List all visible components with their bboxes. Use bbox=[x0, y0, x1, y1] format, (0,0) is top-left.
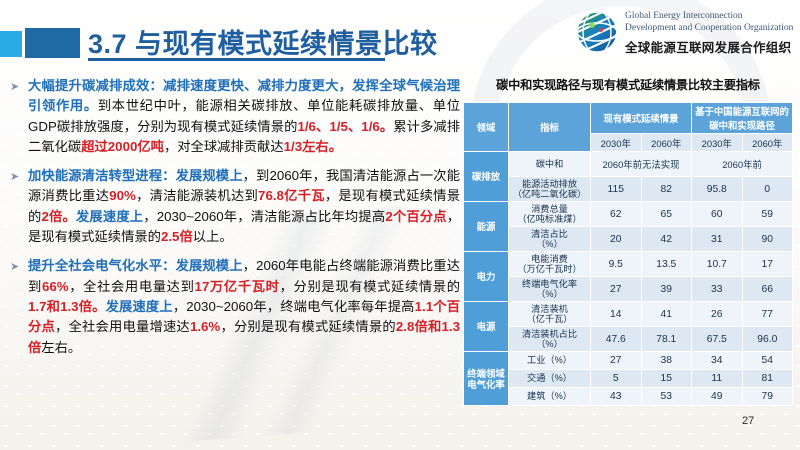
cell-value-c0: 20 bbox=[591, 227, 642, 252]
cell-value-c1: 15 bbox=[641, 370, 692, 388]
bullet-paragraph-clean-energy-transition: ➤ 加快能源清洁转型进程：发展规模上，到2060年，我国清洁能源占一次能源消费比… bbox=[8, 166, 460, 247]
text-run-plain-13: ，分别是现有模式延续情景的 bbox=[220, 319, 396, 334]
logo-english-line1: Global Energy Interconnection bbox=[625, 11, 795, 23]
cell-value-c1: 13.5 bbox=[641, 252, 692, 277]
th-year-2: 2030年 bbox=[692, 134, 743, 152]
table-row: 能源消费总量（亿吨标准煤）62656059 bbox=[464, 202, 793, 227]
text-run-plain-9: ，2030~2060年，清洁能源占比年均提高 bbox=[143, 209, 385, 224]
organization-logo: Global Energy Interconnection Developmen… bbox=[575, 8, 793, 56]
text-run-plain-4: ，全社会用电量达到 bbox=[69, 279, 195, 294]
text-run-plain-6: ，对全球减排贡献达 bbox=[164, 139, 284, 154]
cell-value-c3: 77 bbox=[742, 302, 793, 327]
table-row: 清洁占比（%）20423190 bbox=[464, 227, 793, 252]
content-bullet-list: ➤ 大幅提升碳减排成效：减排速度更快、减排力度更大，发挥全球气候治理引领作用。到… bbox=[8, 76, 460, 367]
slide-canvas: 3.7 与现有模式延续情景比较 bbox=[0, 0, 800, 450]
cell-indicator: 终端电气化率（%） bbox=[509, 277, 591, 302]
cell-indicator: 清洁装机占比（%） bbox=[509, 327, 591, 352]
text-run-red-5: 76.8亿千瓦 bbox=[258, 188, 325, 203]
cell-value-c3: 66 bbox=[742, 277, 793, 302]
table-row: 电力电能消费（万亿千瓦时）9.513.510.717 bbox=[464, 252, 793, 277]
cell-value-c3: 54 bbox=[742, 352, 793, 370]
text-run-red-3: 1/6、1/5、1/6。 bbox=[297, 119, 393, 134]
cell-value-c0: 47.6 bbox=[591, 327, 642, 352]
arrow-bullet-icon: ➤ bbox=[10, 77, 19, 97]
arrow-bullet-icon: ➤ bbox=[10, 257, 19, 277]
table-row: 终端电气化率（%）27393366 bbox=[464, 277, 793, 302]
cell-value-c1: 39 bbox=[641, 277, 692, 302]
cell-value-c0: 43 bbox=[591, 388, 642, 406]
cell-value-c1: 78.1 bbox=[641, 327, 692, 352]
cell-domain: 电力 bbox=[464, 252, 509, 302]
logo-chinese-name: 全球能源互联网发展合作组织 bbox=[625, 37, 791, 56]
th-group-current: 现有模式延续情景 bbox=[591, 103, 692, 134]
table-row: 碳排放碳中和2060年前无法实现2060年前 bbox=[464, 152, 793, 177]
cell-value-c0: 9.5 bbox=[591, 252, 642, 277]
table-row: 交通（%）5151181 bbox=[464, 370, 793, 388]
cell-value-c3: 0 bbox=[742, 177, 793, 202]
text-run-plain-11: ，全社会用电量增速达 bbox=[55, 319, 190, 334]
table-row: 终端领域电气化率工业（%）27383454 bbox=[464, 352, 793, 370]
slide-header: 3.7 与现有模式延续情景比较 bbox=[0, 0, 800, 64]
cell-value-c1: 65 bbox=[641, 202, 692, 227]
cell-value-c2: 67.5 bbox=[692, 327, 743, 352]
text-run-blue-0: 加快能源清洁转型进程： bbox=[28, 168, 176, 183]
cell-value-c2: 34 bbox=[692, 352, 743, 370]
th-indicator: 指标 bbox=[509, 103, 591, 152]
text-run-red-3: 90% bbox=[109, 188, 136, 203]
text-run-blue-1: 发展规模上 bbox=[176, 258, 243, 273]
text-run-red-12: 2.5倍 bbox=[161, 229, 193, 244]
text-run-red-10: 2个百分点 bbox=[385, 209, 446, 224]
cell-value-c2: 49 bbox=[692, 388, 743, 406]
cell-merged-current: 2060年前无法实现 bbox=[591, 152, 692, 177]
cell-value-c1: 53 bbox=[641, 388, 692, 406]
bullet-paragraph-electrification-level: ➤ 提升全社会电气化水平：发展规模上，2060年电能占终端能源消费比重达到66%… bbox=[8, 256, 460, 357]
cell-indicator: 工业（%） bbox=[509, 352, 591, 370]
text-run-red-7: 1/3左右。 bbox=[284, 139, 342, 154]
logo-english-line2: Development and Cooperation Organization bbox=[625, 23, 795, 35]
cell-value-c3: 81 bbox=[742, 370, 793, 388]
cell-indicator: 碳中和 bbox=[509, 152, 591, 177]
arrow-bullet-icon: ➤ bbox=[10, 167, 19, 187]
cell-value-c0: 115 bbox=[591, 177, 642, 202]
cell-indicator: 建筑（%） bbox=[509, 388, 591, 406]
cell-merged-path: 2060年前 bbox=[692, 152, 793, 177]
cell-value-c1: 82 bbox=[641, 177, 692, 202]
table-body: 碳排放碳中和2060年前无法实现2060年前能源活动排放（亿吨二氧化碳）1158… bbox=[464, 152, 793, 406]
text-run-blue-0: 提升全社会电气化水平： bbox=[28, 258, 176, 273]
cell-value-c2: 95.8 bbox=[692, 177, 743, 202]
cell-indicator: 清洁占比（%） bbox=[509, 227, 591, 252]
th-year-3: 2060年 bbox=[742, 134, 793, 152]
text-run-plain-15: 左右。 bbox=[41, 340, 81, 355]
table-head: 领域 指标 现有模式延续情景 基于中国能源互联网的碳中和实现路径 2030年 2… bbox=[464, 103, 793, 152]
cell-value-c2: 26 bbox=[692, 302, 743, 327]
bullet-paragraph-carbon-reduction: ➤ 大幅提升碳减排成效：减排速度更快、减排力度更大，发挥全球气候治理引领作用。到… bbox=[8, 76, 460, 157]
cell-value-c0: 27 bbox=[591, 277, 642, 302]
text-run-red-3: 66% bbox=[42, 279, 69, 294]
cell-value-c2: 33 bbox=[692, 277, 743, 302]
cell-value-c0: 5 bbox=[591, 370, 642, 388]
cell-indicator: 消费总量（亿吨标准煤） bbox=[509, 202, 591, 227]
cell-value-c3: 17 bbox=[742, 252, 793, 277]
th-year-0: 2030年 bbox=[591, 134, 642, 152]
cell-domain: 终端领域电气化率 bbox=[464, 352, 509, 406]
indicators-table: 领域 指标 现有模式延续情景 基于中国能源互联网的碳中和实现路径 2030年 2… bbox=[463, 102, 793, 406]
cell-value-c1: 42 bbox=[641, 227, 692, 252]
text-run-blue-1: 发展规模上 bbox=[176, 168, 243, 183]
cell-value-c2: 60 bbox=[692, 202, 743, 227]
cell-value-c2: 31 bbox=[692, 227, 743, 252]
page-number: 27 bbox=[742, 415, 754, 427]
cell-value-c3: 59 bbox=[742, 202, 793, 227]
table-row: 建筑（%）43534979 bbox=[464, 388, 793, 406]
header-accent-square-blue bbox=[25, 28, 80, 58]
text-run-plain-9: ，2030~2060年，终端电气化率每年提高 bbox=[173, 299, 415, 314]
comparison-table: 领域 指标 现有模式延续情景 基于中国能源互联网的碳中和实现路径 2030年 2… bbox=[463, 102, 792, 406]
cell-domain: 能源 bbox=[464, 202, 509, 252]
th-year-1: 2060年 bbox=[641, 134, 692, 152]
text-run-plain-6: ，分别是现有模式延续情景的 bbox=[280, 279, 460, 294]
title-underline bbox=[88, 58, 385, 61]
cell-indicator: 能源活动排放（亿吨二氧化碳） bbox=[509, 177, 591, 202]
page-title: 3.7 与现有模式延续情景比较 bbox=[88, 22, 438, 61]
cell-indicator: 交通（%） bbox=[509, 370, 591, 388]
table-row: 电源清洁装机（亿千瓦）14412677 bbox=[464, 302, 793, 327]
cell-value-c3: 96.0 bbox=[742, 327, 793, 352]
text-run-red-12: 1.6% bbox=[190, 319, 220, 334]
text-run-blue-0: 大幅提升碳减排成效： bbox=[28, 78, 163, 93]
cell-domain: 碳排放 bbox=[464, 152, 509, 202]
table-header-row-groups: 领域 指标 现有模式延续情景 基于中国能源互联网的碳中和实现路径 bbox=[464, 103, 793, 134]
th-group-path: 基于中国能源互联网的碳中和实现路径 bbox=[692, 103, 793, 134]
cell-value-c0: 27 bbox=[591, 352, 642, 370]
cell-value-c2: 10.7 bbox=[692, 252, 743, 277]
th-domain: 领域 bbox=[464, 103, 509, 152]
cell-value-c0: 14 bbox=[591, 302, 642, 327]
text-run-blue-8: 发展速度上 bbox=[106, 299, 173, 314]
text-run-blue-8: 发展速度上 bbox=[76, 209, 143, 224]
cell-indicator: 电能消费（万亿千瓦时） bbox=[509, 252, 591, 277]
text-run-plain-4: ，清洁能源装机达到 bbox=[136, 188, 258, 203]
text-run-red-5: 17万亿千瓦时 bbox=[195, 279, 280, 294]
table-row: 清洁装机占比（%）47.678.167.596.0 bbox=[464, 327, 793, 352]
logo-english-name: Global Energy Interconnection Developmen… bbox=[625, 11, 795, 34]
cell-value-c3: 90 bbox=[742, 227, 793, 252]
cell-value-c1: 38 bbox=[641, 352, 692, 370]
cell-domain: 电源 bbox=[464, 302, 509, 352]
cell-value-c3: 79 bbox=[742, 388, 793, 406]
text-run-red-7: 1.7和1.3倍。 bbox=[28, 299, 106, 314]
text-run-red-7: 2倍。 bbox=[41, 209, 75, 224]
header-accent-square-cyan bbox=[0, 31, 22, 57]
text-run-red-5: 超过2000亿吨 bbox=[81, 139, 164, 154]
cell-indicator: 清洁装机（亿千瓦） bbox=[509, 302, 591, 327]
text-run-plain-13: 以上。 bbox=[193, 229, 233, 244]
cell-value-c2: 11 bbox=[692, 370, 743, 388]
table-title: 碳中和实现路径与现有模式延续情景比较主要指标 bbox=[463, 75, 793, 93]
globe-logo-icon bbox=[575, 10, 619, 54]
cell-value-c0: 62 bbox=[591, 202, 642, 227]
table-row: 能源活动排放（亿吨二氧化碳）1158295.80 bbox=[464, 177, 793, 202]
cell-value-c1: 41 bbox=[641, 302, 692, 327]
